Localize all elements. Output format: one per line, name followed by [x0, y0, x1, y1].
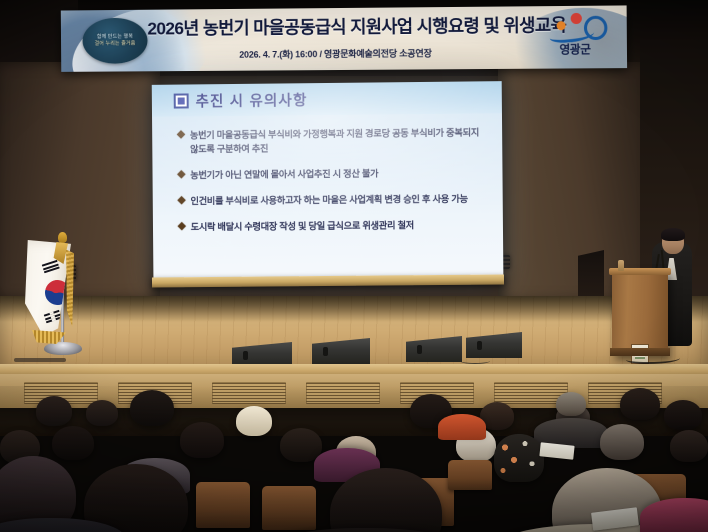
auditorium-seat[interactable] [262, 486, 316, 530]
audience-head [130, 390, 174, 426]
projection-screen: 추진 시 유의사항 농번기 마을공동급식 부식비와 가정행복과 지원 경로당 공… [152, 81, 504, 286]
slogan-line-2: 걸어 누리는 즐거움 [95, 41, 136, 48]
audience-patterned-headscarf [494, 434, 544, 482]
slide-title: 추진 시 유의사항 [196, 89, 308, 111]
taeguk-symbol-icon [42, 277, 73, 308]
banner-title: 2026년 농번기 마을공동급식 지원사업 시행요령 및 위생교육 [147, 15, 525, 38]
county-logo-text: 영광군 [559, 41, 590, 57]
slide-body: 농번기 마을공동급식 부식비와 가정행복과 지원 경로당 공동 부식비가 중복되… [178, 125, 485, 246]
slide-bullet-item: 농번기 마을공동급식 부식비와 가정행복과 지원 경로당 공동 부식비가 중복되… [178, 125, 484, 156]
slide-bullet-item: 인건비를 부식비로 사용하고자 하는 마을은 사업계획 변경 승인 후 사용 가… [179, 192, 485, 209]
trigram-geon-icon [42, 260, 61, 275]
banner-subtitle: 2026. 4. 7.(화) 16:00 / 영광문화예술의전당 소공연장 [148, 47, 526, 62]
trigram-gon-icon [44, 310, 63, 325]
audience-head [86, 400, 118, 426]
audience-head-gray [556, 392, 586, 416]
slide-bullet-item: 농번기가 아닌 연말에 몰아서 사업추진 시 정산 불가 [178, 166, 484, 183]
slide-bullet-text: 도시락 배달시 수령대장 작성 및 당일 급식으로 위생관리 철저 [191, 218, 414, 234]
monitor-handle-icon [477, 341, 482, 350]
slide-bullet-text: 인건비를 부식비로 사용하고자 하는 마을은 사업계획 변경 승인 후 사용 가… [190, 192, 467, 208]
audience-head [620, 388, 660, 420]
audience-head-gray [600, 424, 644, 460]
auditorium-seat[interactable] [196, 482, 250, 528]
audience-head [52, 426, 94, 460]
audience-hat [236, 406, 272, 436]
event-banner: 함께 만드는 행복 걸어 누리는 즐거움 2026년 농번기 마을공동급식 지원… [61, 5, 627, 71]
slide-bullet-text: 농번기가 아닌 연말에 몰아서 사업추진 시 정산 불가 [190, 167, 378, 183]
audience-head [36, 396, 72, 426]
podium-area [612, 230, 704, 356]
diamond-bullet-icon [177, 196, 185, 204]
slide-bullet-text: 농번기 마을공동급식 부식비와 가정행복과 지원 경로당 공동 부식비가 중복되… [190, 125, 484, 156]
audience-head [664, 400, 702, 430]
flag-finial-icon [58, 232, 67, 243]
audience-area [0, 386, 708, 532]
auditorium-seat[interactable] [448, 460, 492, 490]
audience-red-jacket [438, 414, 486, 440]
logo-red-dot-icon [571, 13, 582, 24]
flag-stand-base [44, 342, 82, 355]
diamond-bullet-icon [177, 130, 185, 138]
audience-head [670, 430, 708, 462]
square-bullet-icon [174, 93, 189, 108]
county-logo-mark-icon [543, 12, 606, 41]
stage-floor-shadow [0, 296, 708, 322]
county-logo: 영광군 [537, 12, 613, 65]
monitor-handle-icon [323, 347, 328, 356]
flag-cloth [25, 240, 71, 336]
slide-title-row: 추진 시 유의사항 [174, 89, 308, 111]
lectern [612, 272, 668, 356]
water-bottle-icon [618, 260, 624, 271]
presenter-hair [661, 228, 685, 241]
slide-bullet-item: 도시락 배달시 수령대장 작성 및 당일 급식으로 위생관리 철저 [179, 218, 485, 234]
diamond-bullet-icon [177, 170, 185, 178]
auditorium-photo: 함께 만드는 행복 걸어 누리는 즐거움 2026년 농번기 마을공동급식 지원… [0, 0, 708, 532]
handout-paper [539, 442, 574, 459]
monitor-handle-icon [243, 351, 248, 360]
diamond-bullet-icon [178, 222, 186, 230]
slogan-emblem-icon: 함께 만드는 행복 걸어 누리는 즐거움 [82, 18, 147, 64]
monitor-handle-icon [417, 345, 422, 354]
korean-flag [16, 232, 90, 378]
audience-head [180, 422, 224, 458]
